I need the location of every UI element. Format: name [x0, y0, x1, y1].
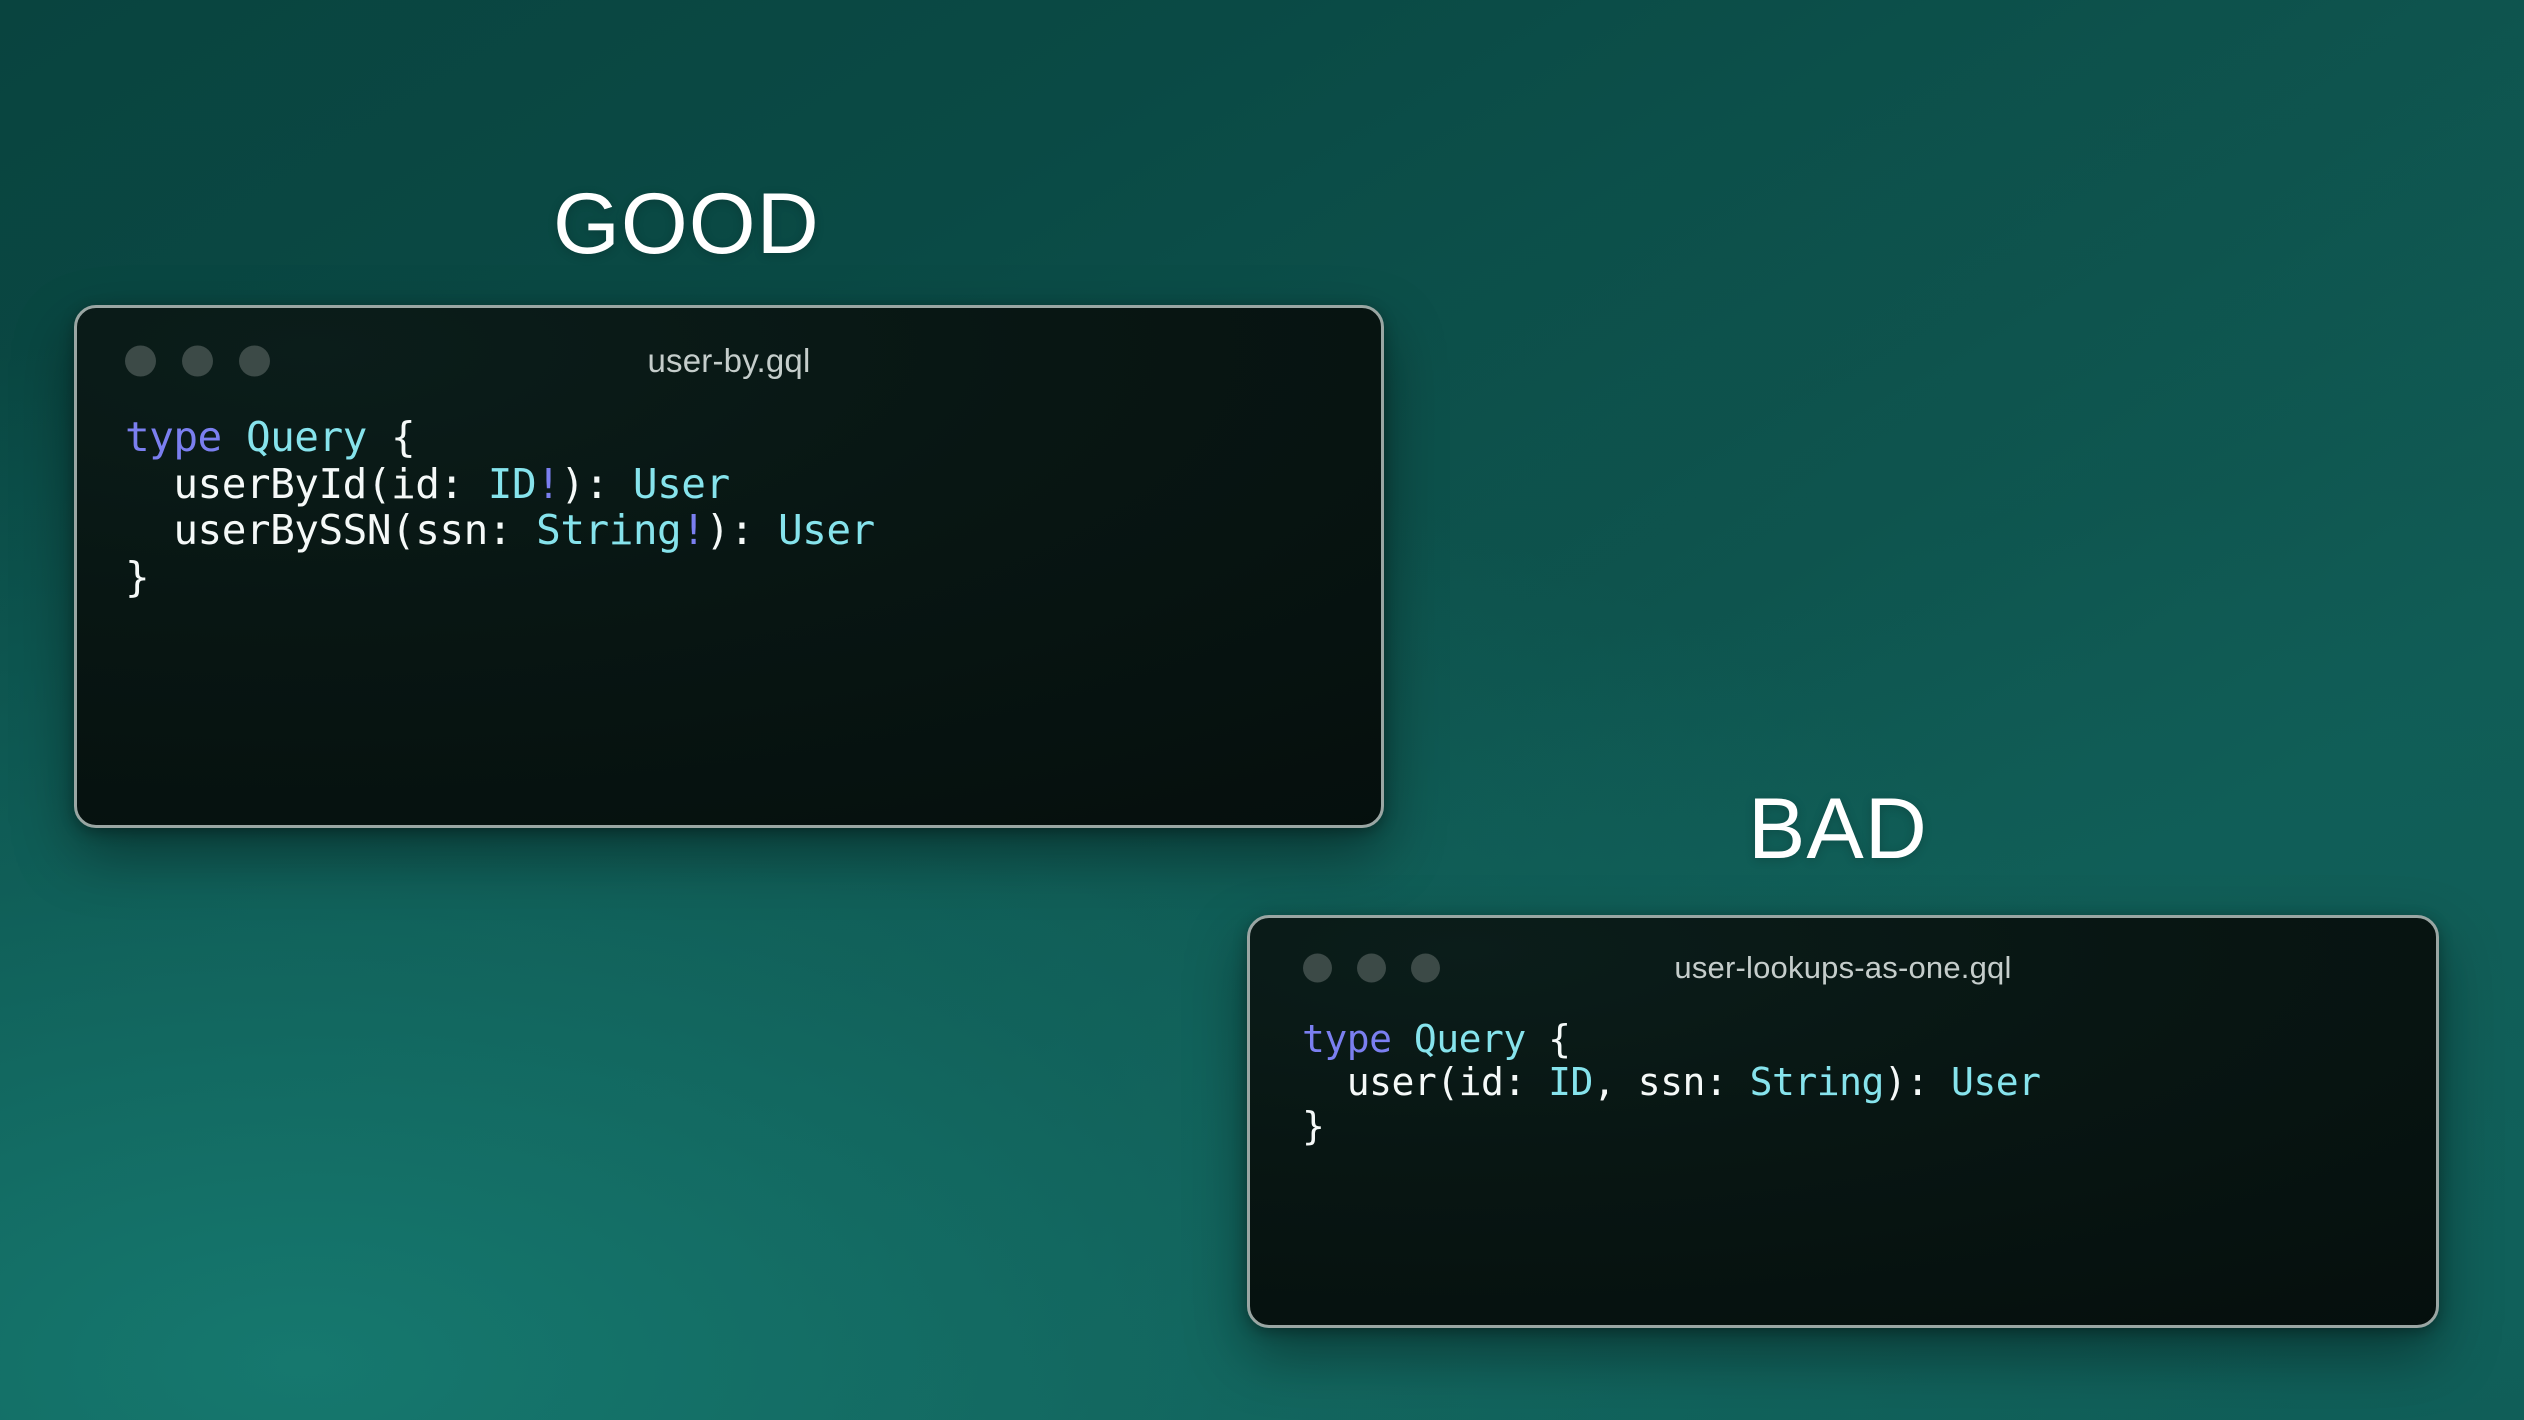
- code-line-1: type Query {: [1302, 1018, 2436, 1061]
- code-line-1: type Query {: [125, 414, 1381, 461]
- code-token: ID: [1548, 1060, 1593, 1104]
- code-token: User: [778, 506, 875, 554]
- traffic-light-dots: [125, 346, 270, 377]
- code-block: type Query { userById(id: ID!): User use…: [77, 414, 1381, 601]
- code-token: Query: [246, 413, 367, 461]
- minimize-dot-icon[interactable]: [1357, 954, 1386, 983]
- window-titlebar: user-by.gql: [77, 308, 1381, 414]
- code-token: user(id:: [1302, 1060, 1548, 1104]
- good-example-label: GOOD: [553, 181, 820, 267]
- code-token: {: [1526, 1017, 1571, 1061]
- code-token: [222, 413, 246, 461]
- code-token: }: [1302, 1104, 1324, 1148]
- window-titlebar: user-lookups-as-one.gql: [1250, 918, 2436, 1018]
- code-token: , ssn:: [1593, 1060, 1750, 1104]
- bad-example-label: BAD: [1748, 786, 1928, 872]
- comparison-slide: GOOD user-by.gql type Query { userById(i…: [0, 0, 2524, 1420]
- maximize-dot-icon[interactable]: [239, 346, 270, 377]
- window-filename: user-by.gql: [77, 342, 1381, 380]
- close-dot-icon[interactable]: [1303, 954, 1332, 983]
- traffic-light-dots: [1303, 954, 1440, 983]
- code-block: type Query { user(id: ID, ssn: String): …: [1250, 1018, 2436, 1148]
- code-token: {: [367, 413, 415, 461]
- code-token: !: [681, 506, 705, 554]
- code-token: User: [633, 460, 730, 508]
- code-token: String: [536, 506, 681, 554]
- code-token: ID: [488, 460, 536, 508]
- code-line-3: }: [1302, 1105, 2436, 1148]
- code-token: ):: [705, 506, 778, 554]
- code-token: type: [1302, 1017, 1392, 1061]
- code-token: User: [1951, 1060, 2041, 1104]
- minimize-dot-icon[interactable]: [182, 346, 213, 377]
- code-line-3: userBySSN(ssn: String!): User: [125, 507, 1381, 554]
- code-line-2: userById(id: ID!): User: [125, 461, 1381, 508]
- code-token: ):: [1884, 1060, 1951, 1104]
- code-token: !: [536, 460, 560, 508]
- code-token: String: [1750, 1060, 1884, 1104]
- maximize-dot-icon[interactable]: [1411, 954, 1440, 983]
- code-window-good: user-by.gql type Query { userById(id: ID…: [74, 305, 1384, 828]
- code-token: type: [125, 413, 222, 461]
- code-token: userById(id:: [125, 460, 488, 508]
- code-token: ):: [560, 460, 633, 508]
- code-window-bad: user-lookups-as-one.gql type Query { use…: [1247, 915, 2439, 1328]
- code-token: Query: [1414, 1017, 1526, 1061]
- code-line-2: user(id: ID, ssn: String): User: [1302, 1061, 2436, 1104]
- code-token: }: [125, 553, 149, 601]
- code-line-4: }: [125, 554, 1381, 601]
- code-token: [1392, 1017, 1414, 1061]
- code-token: userBySSN(ssn:: [125, 506, 536, 554]
- close-dot-icon[interactable]: [125, 346, 156, 377]
